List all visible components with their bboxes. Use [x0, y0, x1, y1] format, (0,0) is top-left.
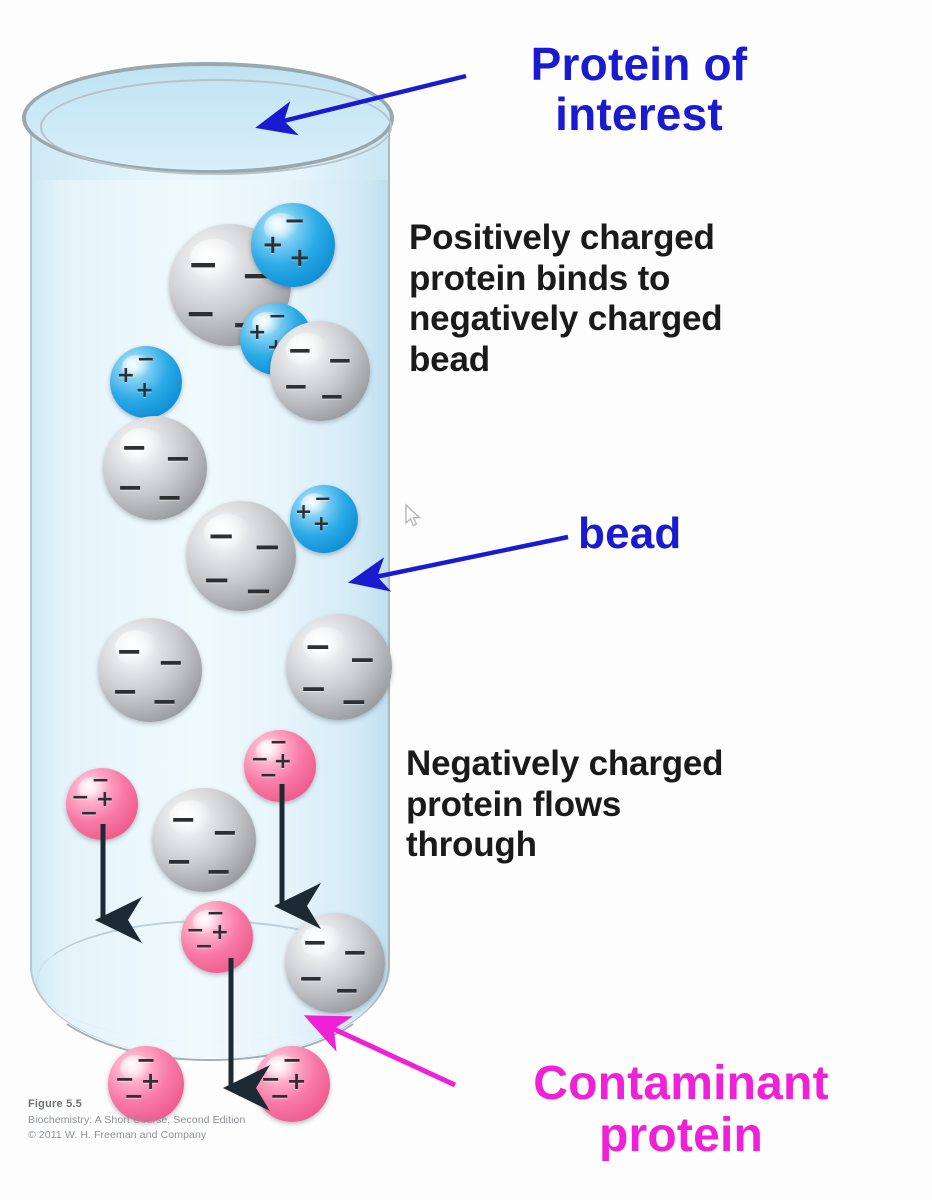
negative-charge-icon: − — [319, 382, 345, 413]
positive-charge-icon: + — [274, 751, 292, 773]
bead-sphere: −−−− — [152, 788, 256, 892]
negative-charge-icon: − — [251, 749, 269, 771]
negative-charge-icon: − — [164, 442, 191, 474]
sphere-highlight — [256, 739, 286, 763]
callout-bead: bead — [578, 510, 682, 558]
negative-charge-icon: − — [206, 903, 224, 925]
annotation-flows: Negatively charged protein flows through — [406, 744, 906, 866]
negative-charge-icon: − — [304, 629, 332, 662]
negative-charge-icon: − — [302, 928, 328, 959]
positive-charge-icon: + — [286, 1069, 306, 1093]
callout-contaminant-protein: Contaminant protein — [446, 1058, 916, 1162]
sphere-highlight — [169, 800, 213, 835]
negative-charge-icon: − — [244, 574, 273, 608]
protein-of-interest-sphere: −++ — [110, 346, 182, 418]
bead-sphere: −−−− — [98, 618, 202, 722]
negative-charge-icon: − — [195, 936, 213, 958]
negative-charge-icon: − — [314, 488, 332, 509]
negative-charge-icon: − — [342, 938, 368, 969]
sphere-highlight — [301, 493, 330, 516]
negative-charge-icon: − — [283, 372, 309, 403]
negative-charge-icon: − — [327, 346, 353, 377]
annotation-binds: Positively charged protein binds to nega… — [409, 218, 909, 380]
sphere-layer: −−−−−++−++−−−−−++−−−−−++−−−−−−−−−−−−−−+−… — [18, 58, 398, 1078]
sphere-highlight — [122, 355, 152, 379]
contaminant-protein-sphere: −−+− — [181, 901, 253, 973]
negative-charge-icon: − — [186, 920, 204, 942]
negative-charge-icon: − — [211, 816, 238, 848]
figure-caption: Figure 5.5 Biochemistry: A Short Course,… — [28, 1096, 358, 1144]
negative-charge-icon: − — [334, 976, 360, 1007]
negative-charge-icon: − — [282, 1048, 302, 1072]
negative-charge-icon: − — [284, 208, 306, 234]
negative-charge-icon: − — [151, 685, 178, 717]
negative-charge-icon: − — [268, 306, 286, 328]
bead-sphere: −−−− — [186, 501, 296, 611]
sphere-highlight — [303, 627, 348, 663]
negative-charge-icon: − — [121, 431, 148, 463]
positive-charge-icon: + — [295, 502, 313, 523]
negative-charge-icon: − — [117, 471, 144, 503]
negative-charge-icon: − — [136, 1048, 156, 1072]
protein-of-interest-sphere: −++ — [251, 203, 335, 287]
positive-charge-icon: + — [140, 1069, 160, 1093]
contaminant-protein-sphere: −−+− — [66, 768, 138, 840]
negative-charge-icon: − — [156, 481, 183, 513]
negative-charge-icon: − — [207, 519, 236, 553]
negative-charge-icon: − — [298, 964, 324, 995]
positive-charge-icon: + — [312, 514, 330, 535]
sphere-highlight — [120, 428, 164, 463]
mouse-cursor-icon — [404, 504, 424, 528]
negative-charge-icon: − — [185, 294, 217, 332]
positive-charge-icon: + — [211, 922, 229, 944]
negative-charge-icon: − — [300, 672, 328, 705]
sphere-highlight — [286, 333, 328, 367]
positive-charge-icon: + — [248, 322, 266, 344]
positive-charge-icon: + — [135, 380, 153, 402]
negative-charge-icon: − — [115, 1067, 135, 1091]
negative-charge-icon: − — [166, 845, 193, 877]
bead-sphere: −−−− — [103, 416, 207, 520]
negative-charge-icon: − — [205, 855, 232, 887]
sphere-highlight — [193, 910, 223, 934]
sphere-highlight — [78, 777, 108, 801]
sphere-highlight — [204, 514, 250, 551]
sphere-highlight — [301, 925, 343, 959]
positive-charge-icon: + — [117, 365, 135, 387]
negative-charge-icon: − — [137, 349, 155, 371]
positive-charge-icon: + — [262, 232, 284, 258]
negative-charge-icon: − — [269, 732, 287, 754]
negative-charge-icon: − — [71, 787, 89, 809]
caption-copyright: © 2011 W. H. Freeman and Company — [28, 1128, 358, 1144]
negative-charge-icon: − — [116, 635, 143, 667]
negative-charge-icon: − — [91, 770, 109, 792]
negative-charge-icon: − — [170, 803, 197, 835]
negative-charge-icon: − — [340, 684, 368, 717]
caption-source: Biochemistry: A Short Course, Second Edi… — [28, 1113, 358, 1129]
positive-charge-icon: + — [289, 245, 311, 271]
protein-of-interest-sphere: −++ — [290, 485, 358, 553]
figure-canvas: −−−−−++−++−−−−−++−−−−−++−−−−−−−−−−−−−−+−… — [0, 0, 932, 1200]
negative-charge-icon: − — [348, 642, 376, 675]
negative-charge-icon: − — [261, 1067, 281, 1091]
bead-sphere: −−−− — [286, 614, 392, 720]
negative-charge-icon: − — [259, 765, 277, 787]
bead-sphere: −−−− — [285, 913, 385, 1013]
negative-charge-icon: − — [112, 675, 139, 707]
sphere-highlight — [252, 312, 282, 336]
sphere-highlight — [189, 239, 240, 280]
negative-charge-icon: − — [253, 530, 282, 564]
contaminant-protein-sphere: −−+− — [244, 730, 316, 802]
sphere-highlight — [115, 630, 159, 665]
bead-sphere: −−−− — [270, 321, 370, 421]
sphere-highlight — [120, 1055, 152, 1081]
sphere-highlight — [264, 213, 299, 242]
negative-charge-icon: − — [287, 336, 313, 367]
negative-charge-icon: − — [80, 803, 98, 825]
caption-figure-number: Figure 5.5 — [28, 1096, 358, 1113]
chromatography-column: −−−−−++−++−−−−−++−−−−−++−−−−−−−−−−−−−−+−… — [18, 58, 398, 1078]
positive-charge-icon: + — [96, 789, 114, 811]
negative-charge-icon: − — [203, 563, 232, 597]
sphere-highlight — [266, 1055, 298, 1081]
negative-charge-icon: − — [187, 245, 219, 283]
callout-protein-of-interest: Protein of interest — [474, 40, 804, 139]
negative-charge-icon: − — [157, 646, 184, 678]
